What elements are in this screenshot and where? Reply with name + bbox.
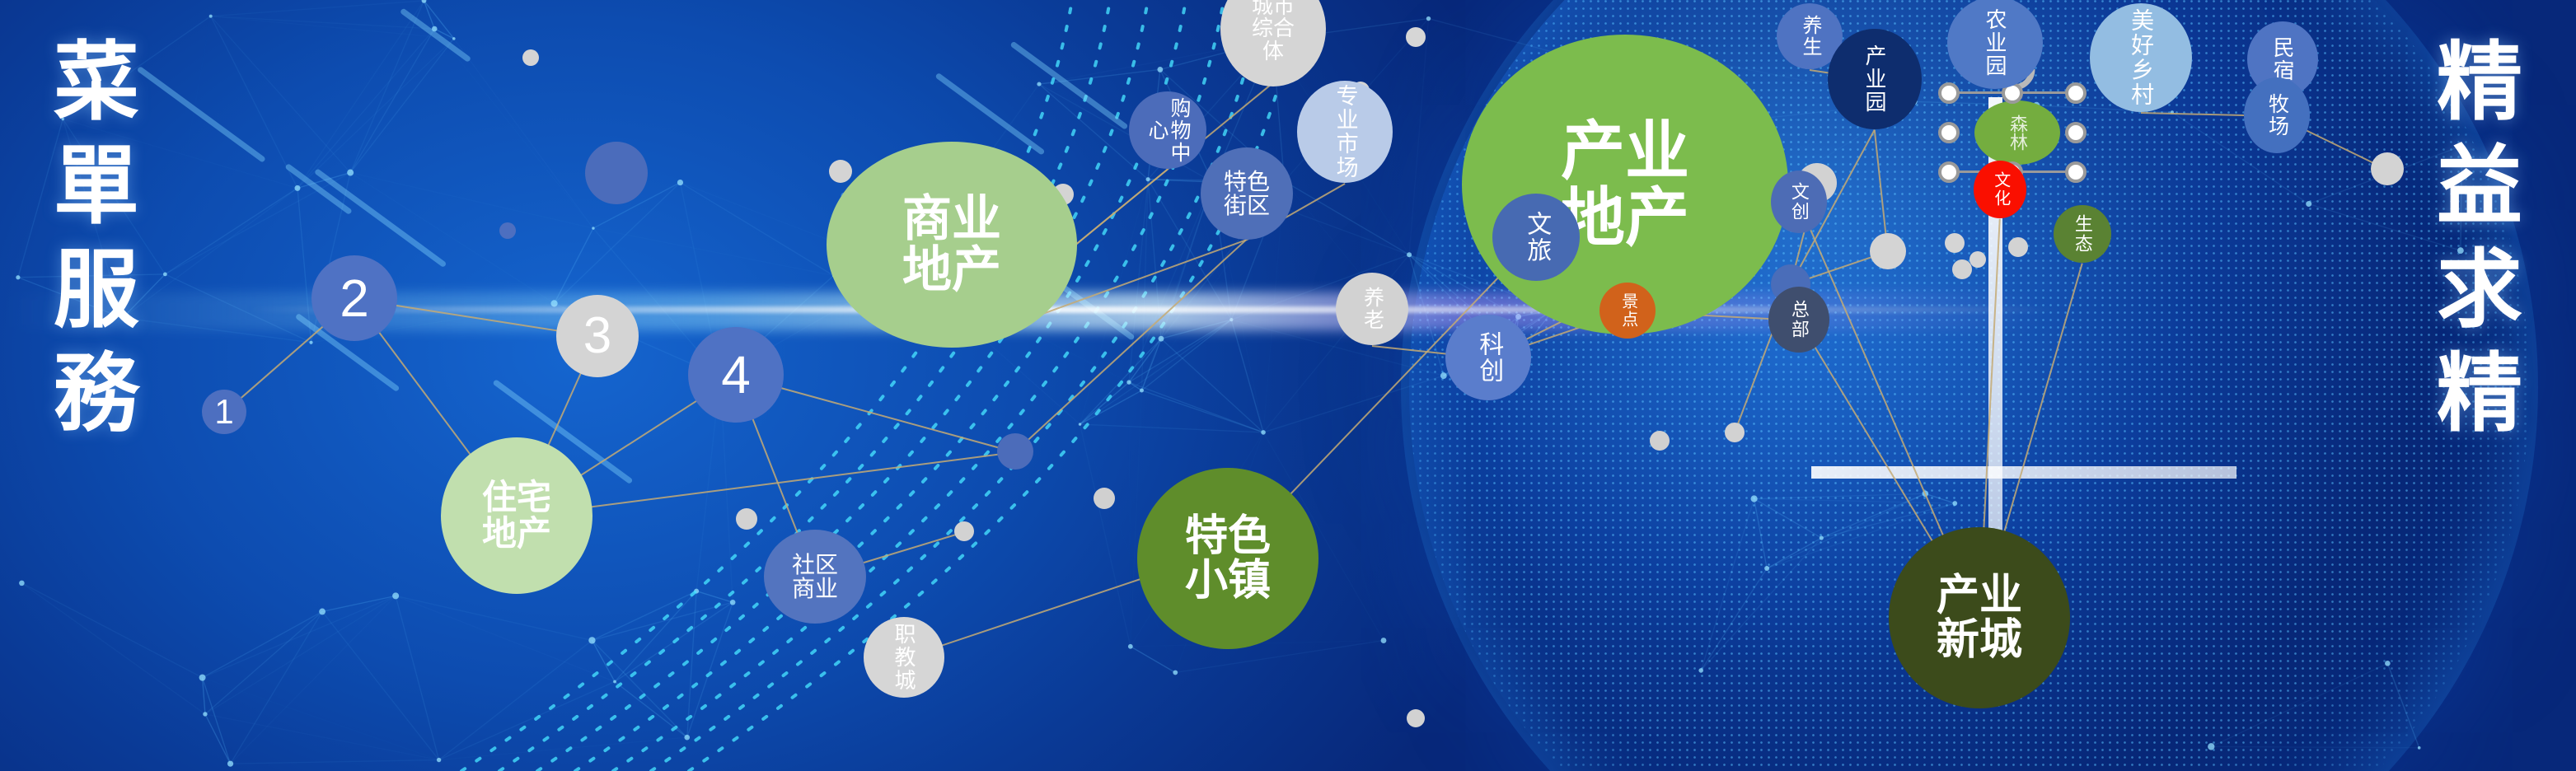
bubble-specialty-block[interactable]: 特色街区 xyxy=(1201,147,1293,240)
bubble-professional-market-label: 专业市场 xyxy=(1332,84,1356,180)
network-dot-9 xyxy=(1406,27,1426,47)
forest-handle-mr[interactable] xyxy=(2065,122,2087,143)
network-dot-5 xyxy=(997,433,1033,470)
network-dot-4 xyxy=(1052,184,1074,205)
bubble-characteristic-town[interactable]: 特色小镇 xyxy=(1137,468,1318,649)
bubble-commercial-real-estate-label: 商业地产 xyxy=(902,194,1001,297)
bubble-urban-complex[interactable]: 城市综合体 xyxy=(1220,0,1326,86)
edge-13 xyxy=(1014,239,1247,452)
edge-8 xyxy=(815,531,964,577)
node-4[interactable]: 4 xyxy=(688,327,784,423)
forest-dash-bottom-left xyxy=(1956,171,2004,173)
forest-widget[interactable]: 森林 xyxy=(1938,40,2087,204)
forest-label: 森林 xyxy=(1974,100,2060,165)
edge-4 xyxy=(517,375,737,516)
bubble-specialty-block-label: 特色街区 xyxy=(1224,170,1270,217)
node-1-label: 1 xyxy=(214,394,233,430)
forest-dash-top-right xyxy=(2020,91,2068,94)
edge-12 xyxy=(1247,183,1346,240)
edge-6 xyxy=(736,375,1015,452)
right-calligraphy-text: 精益求精 xyxy=(2414,36,2529,451)
network-dot-0 xyxy=(522,49,539,66)
bubble-community-business[interactable]: 社区商业 xyxy=(764,530,866,624)
bubble-shopping-center-label: 购物中心 xyxy=(1145,91,1190,169)
edge-7 xyxy=(517,451,1015,516)
bubble-urban-complex-label: 城市综合体 xyxy=(1252,0,1295,63)
white-cross-horizontal xyxy=(1811,466,2236,479)
network-dot-7 xyxy=(954,521,974,541)
forest-dash-top-left xyxy=(1956,91,2004,94)
network-dot-2 xyxy=(585,142,648,204)
bubble-vocational-edu-city-label: 职教城 xyxy=(892,623,916,692)
bubble-vocational-edu-city[interactable]: 职教城 xyxy=(864,617,944,698)
network-dot-21 xyxy=(1351,82,1370,100)
edge-9 xyxy=(904,577,1145,658)
edge-2 xyxy=(354,298,517,516)
node-4-label: 4 xyxy=(721,348,751,403)
forest-handle-br[interactable] xyxy=(2065,161,2087,183)
bubble-professional-market[interactable]: 专业市场 xyxy=(1297,81,1393,183)
infographic-canvas: 森林 1234商业地产住宅地产特色小镇产业地产产业新城城市综合体购物中心专业市场… xyxy=(0,0,2576,771)
bubble-community-business-label: 社区商业 xyxy=(792,553,838,600)
forest-handle-tr[interactable] xyxy=(2065,82,2087,104)
network-dot-1 xyxy=(499,222,516,239)
forest-dash-bottom-right xyxy=(2020,171,2068,173)
forest-handle-ml[interactable] xyxy=(1938,122,1960,143)
network-dot-8 xyxy=(736,508,757,530)
network-dot-22 xyxy=(1407,709,1425,727)
edge-5 xyxy=(735,375,815,577)
bubble-residential-real-estate[interactable]: 住宅地产 xyxy=(441,437,592,594)
bubble-characteristic-town-label: 特色小镇 xyxy=(1185,514,1271,603)
node-1[interactable]: 1 xyxy=(202,390,246,434)
light-beam-core xyxy=(247,306,2060,313)
left-calligraphy-text: 菜單服務 xyxy=(31,36,146,451)
network-dot-6 xyxy=(1094,488,1115,509)
bubble-residential-real-estate-label: 住宅地产 xyxy=(482,479,551,551)
network-dot-3 xyxy=(829,160,852,183)
bubble-shopping-center[interactable]: 购物中心 xyxy=(1129,91,1206,169)
edge-3 xyxy=(516,336,597,516)
